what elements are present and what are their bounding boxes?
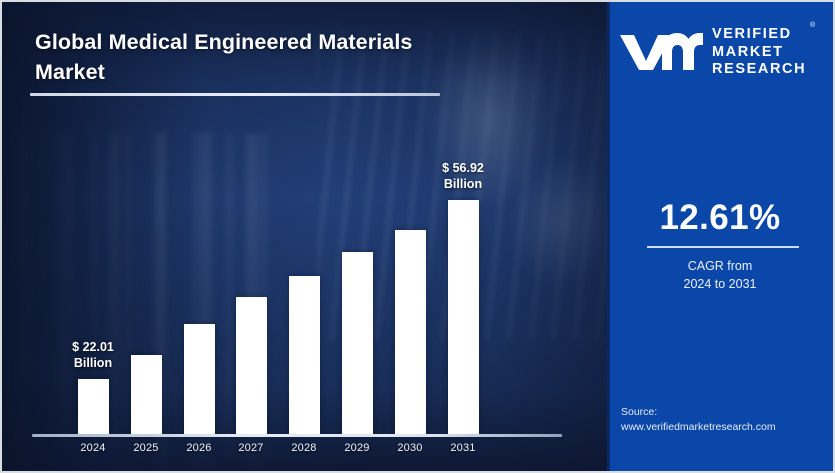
source-label: Source: [621, 405, 776, 420]
x-axis-line [32, 434, 562, 437]
callout-last-value: $ 56.92 [415, 160, 511, 176]
vmr-logo-icon [617, 28, 703, 77]
x-tick-2024: 2024 [67, 442, 119, 454]
bar-2029 [342, 252, 373, 434]
brand-panel: VERIFIED MARKET RESEARCH ® 12.61% CAGR f… [607, 2, 833, 471]
callout-first-unit: Billion [45, 355, 141, 371]
infographic-root: Global Medical Engineered Materials Mark… [0, 0, 835, 473]
x-tick-2025: 2025 [120, 442, 172, 454]
source-url[interactable]: www.verifiedmarketresearch.com [621, 420, 776, 435]
bar-2031 [448, 200, 479, 434]
bar-2028 [289, 276, 320, 434]
callout-last-unit: Billion [415, 176, 511, 192]
x-tick-2026: 2026 [173, 442, 225, 454]
cagr-value: 12.61% [607, 198, 833, 238]
cagr-caption: CAGR from 2024 to 2031 [607, 257, 833, 293]
x-tick-2029: 2029 [331, 442, 383, 454]
brand-logo: VERIFIED MARKET RESEARCH ® [617, 26, 806, 79]
brand-line-verified: VERIFIED [712, 26, 806, 44]
cagr-caption-line1: CAGR from [607, 257, 833, 275]
cagr-caption-line2: 2024 to 2031 [607, 275, 833, 293]
callout-first-bar: $ 22.01 Billion [45, 339, 141, 371]
x-tick-2027: 2027 [225, 442, 277, 454]
cagr-divider [647, 246, 799, 248]
x-tick-2030: 2030 [384, 442, 436, 454]
chart-panel: Global Medical Engineered Materials Mark… [2, 2, 607, 471]
source-block: Source: www.verifiedmarketresearch.com [621, 405, 776, 435]
bar-2030 [395, 230, 426, 434]
x-tick-2031: 2031 [437, 442, 489, 454]
bar-chart: $ 22.01 Billion $ 56.92 Billion 2024 202… [2, 2, 607, 471]
brand-line-market: MARKET [712, 44, 806, 62]
bar-2027 [236, 297, 267, 434]
bar-2024 [78, 379, 109, 434]
brand-line-research: RESEARCH [712, 61, 806, 79]
x-tick-2028: 2028 [278, 442, 330, 454]
registered-trademark-icon: ® [810, 22, 815, 31]
bar-2026 [184, 324, 215, 434]
callout-last-bar: $ 56.92 Billion [415, 160, 511, 192]
brand-wordmark: VERIFIED MARKET RESEARCH ® [712, 26, 806, 79]
callout-first-value: $ 22.01 [45, 339, 141, 355]
